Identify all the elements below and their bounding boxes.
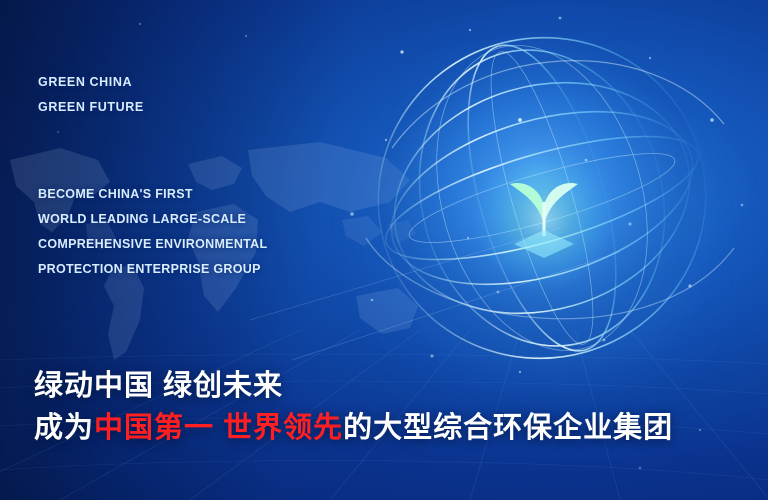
chinese-slogan-prefix: 成为 <box>34 412 94 444</box>
banner-image: GREEN CHINA GREEN FUTURE BECOME CHINA'S … <box>0 0 768 500</box>
chinese-slogan-suffix: 的大型综合环保企业集团 <box>343 412 673 444</box>
statement-line-2: WORLD LEADING LARGE-SCALE <box>38 207 267 232</box>
chinese-slogan-highlight: 中国第一 世界领先 <box>94 412 343 444</box>
chinese-slogan: 绿动中国 绿创未来 成为中国第一 世界领先的大型综合环保企业集团 <box>34 366 673 450</box>
tagline-line-1: GREEN CHINA <box>38 70 144 95</box>
statement-line-4: PROTECTION ENTERPRISE GROUP <box>38 257 267 282</box>
english-statement: BECOME CHINA'S FIRST WORLD LEADING LARGE… <box>38 182 267 282</box>
statement-line-1: BECOME CHINA'S FIRST <box>38 182 267 207</box>
english-tagline: GREEN CHINA GREEN FUTURE <box>38 70 144 120</box>
chinese-slogan-line-2: 成为中国第一 世界领先的大型综合环保企业集团 <box>34 406 673 450</box>
tagline-line-2: GREEN FUTURE <box>38 95 144 120</box>
chinese-slogan-line-1: 绿动中国 绿创未来 <box>34 366 673 406</box>
statement-line-3: COMPREHENSIVE ENVIRONMENTAL <box>38 232 267 257</box>
